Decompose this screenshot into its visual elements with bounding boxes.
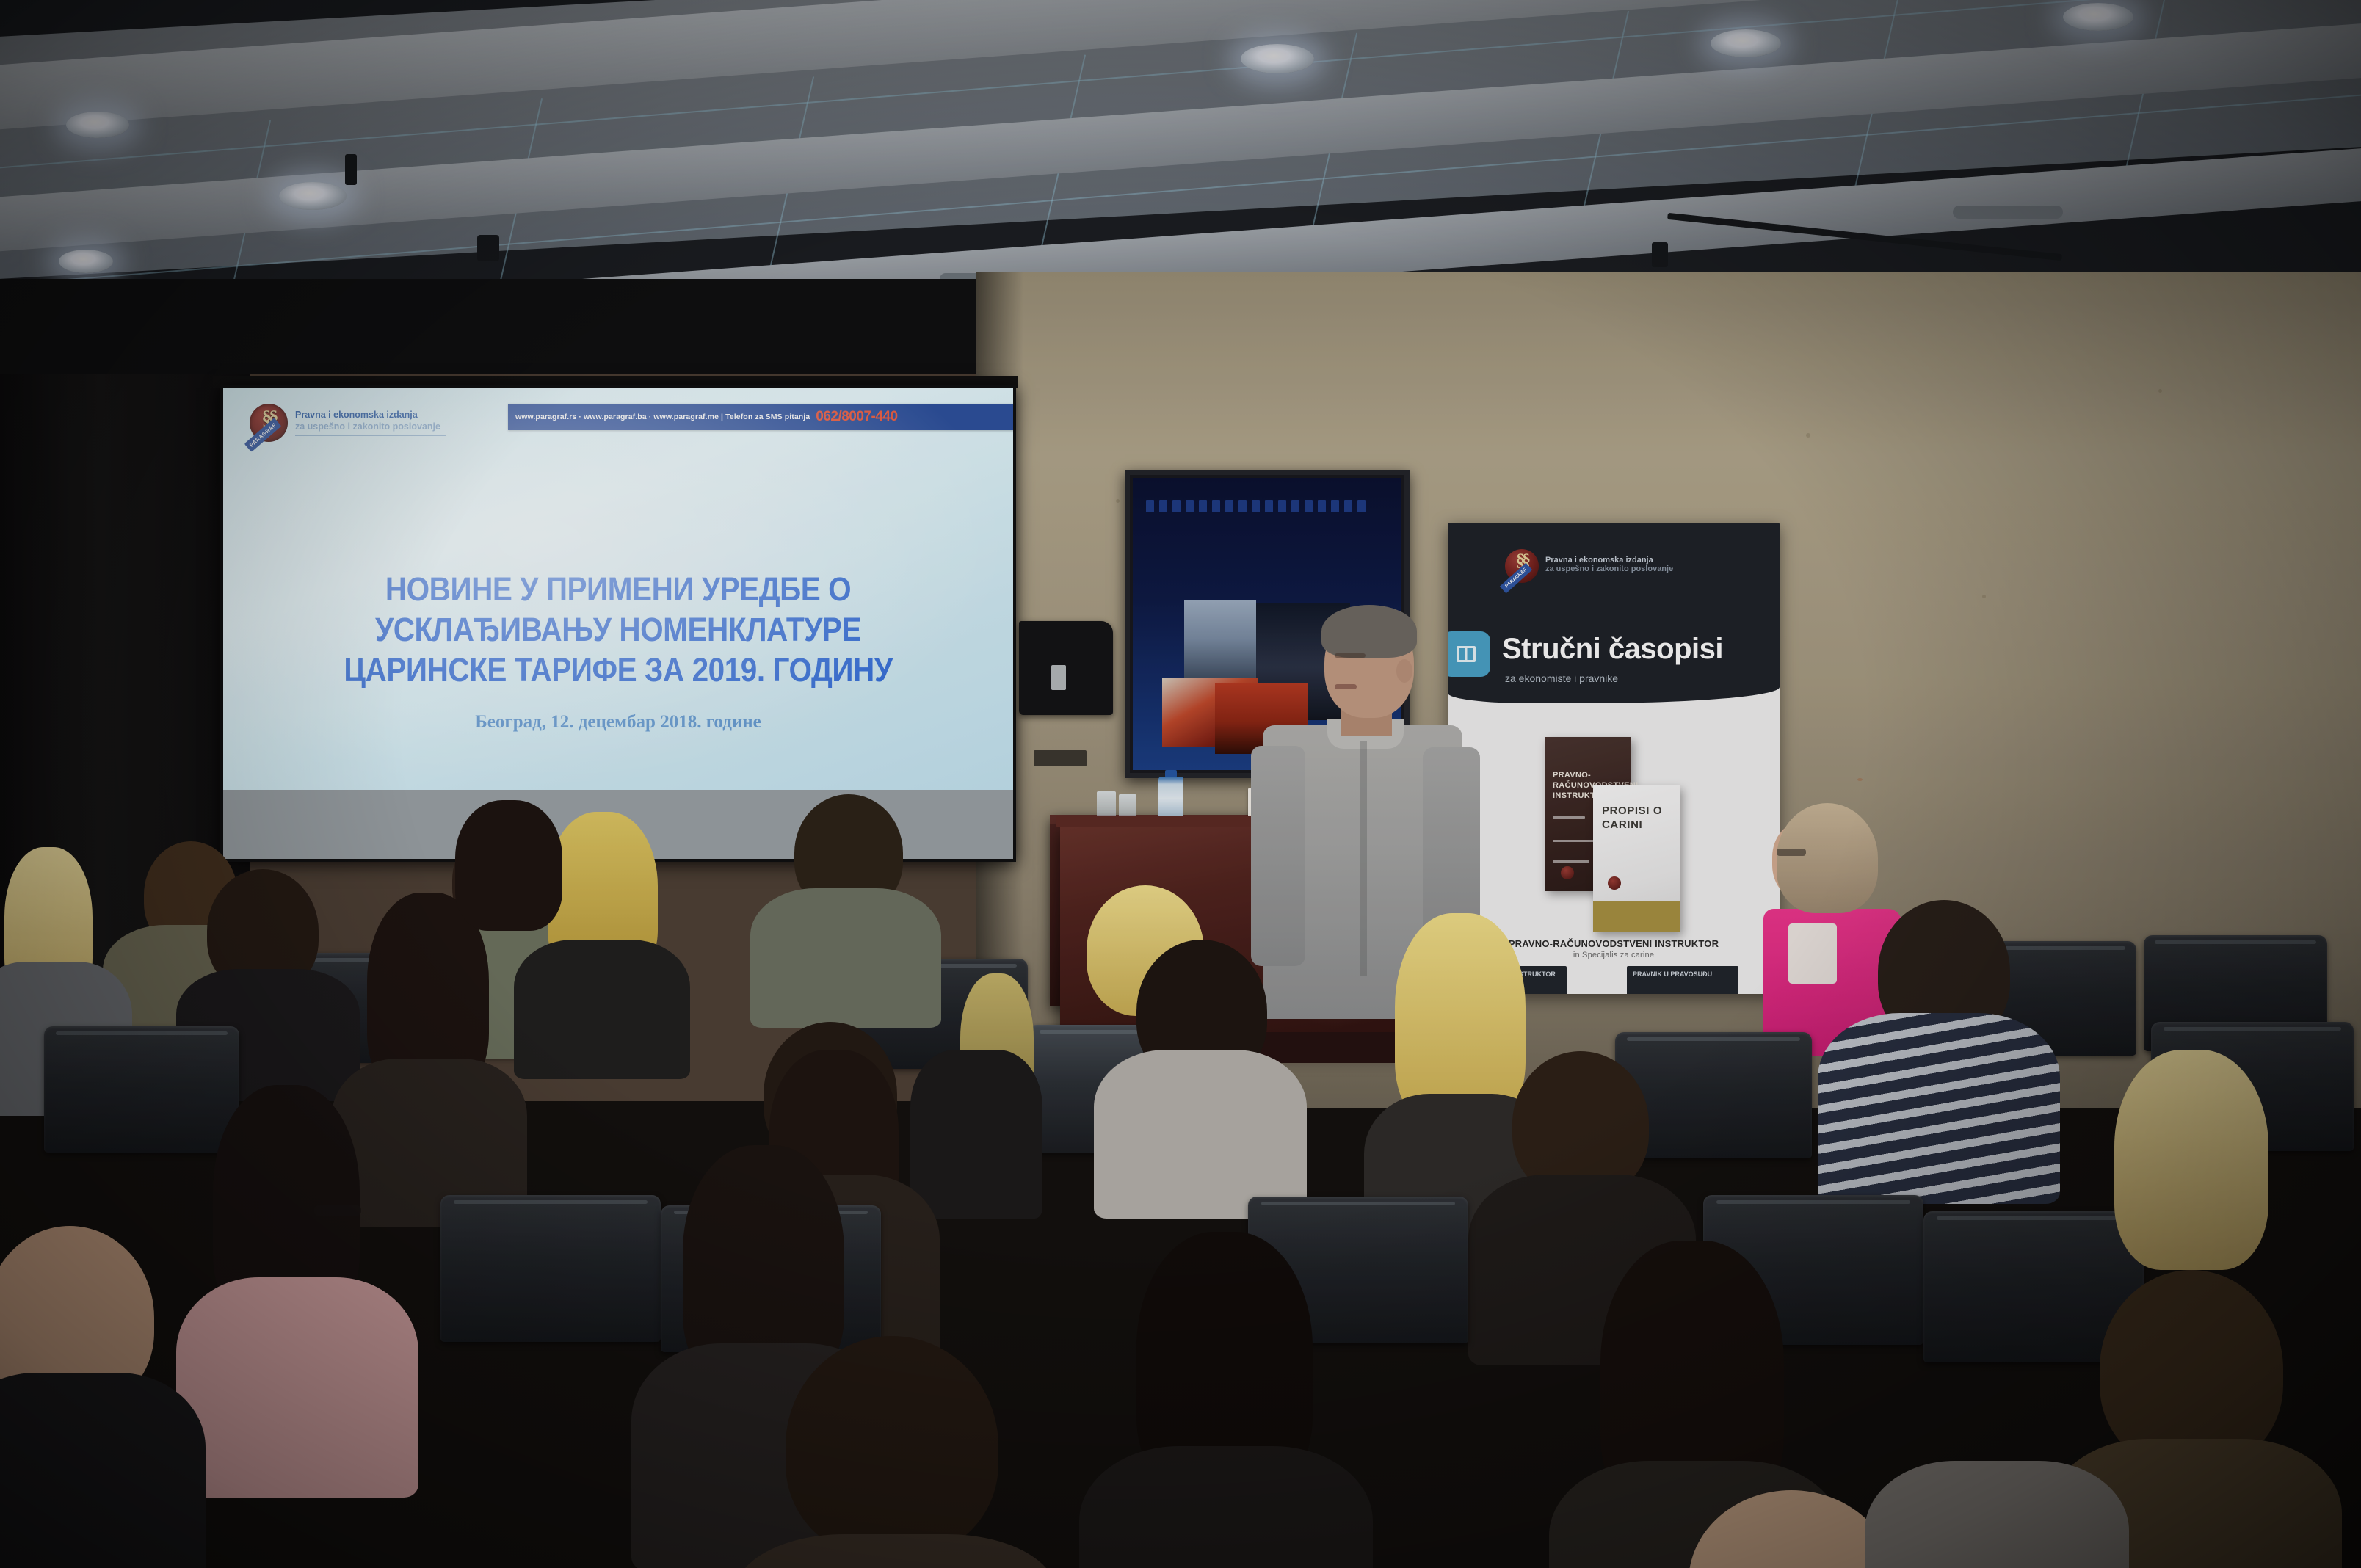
slide-subtitle: Београд, 12. децембар 2018. године — [266, 712, 971, 733]
attendee-torso — [514, 940, 690, 1079]
slide-tagline-rule — [295, 435, 446, 436]
ceiling-sensor-icon — [477, 235, 499, 261]
rollup-tagline-line2: za uspešno i zakonito poslovanje — [1545, 565, 1689, 573]
ceiling-downlight — [2063, 3, 2133, 31]
poster-photo — [1184, 600, 1256, 682]
screen-surface: §§ PARAGRAF Pravna i ekonomska izdanja z… — [223, 388, 1013, 859]
slide-title: НОВИНЕ У ПРИМЕНИ УРЕДБЕ О УСКЛАЂИВАЊУ НО… — [301, 570, 935, 691]
slide-banner-phone: 062/8007-440 — [816, 409, 897, 425]
poster-top-strip — [1146, 500, 1366, 512]
speaker-hair — [1321, 605, 1417, 658]
attendee-torso — [910, 1050, 1042, 1219]
rollup-logo: §§ PARAGRAF Pravna i ekonomska izdanja z… — [1505, 549, 1689, 583]
attendee-torso — [750, 888, 941, 1028]
paragraf-seal-icon: §§ PARAGRAF — [1505, 549, 1539, 583]
attendee-torso — [0, 1373, 206, 1568]
speaker-brow — [1335, 653, 1366, 658]
ceiling-downlight — [1241, 44, 1314, 73]
speaker-mouth — [1335, 684, 1357, 689]
ceiling-downlight — [1711, 29, 1781, 57]
slide-tagline: Pravna i ekonomska izdanja za uspešno i … — [295, 410, 446, 435]
bottle-cap — [1165, 770, 1177, 777]
ceiling-sensor-icon — [1652, 242, 1668, 267]
ceiling-downlight — [66, 112, 129, 138]
dark-wall-upper — [0, 279, 998, 374]
speaker-led-icon — [1051, 665, 1066, 690]
attendee-hair — [455, 800, 562, 931]
auditorium-seat — [44, 1026, 239, 1153]
ceiling-vent — [1953, 206, 2063, 219]
slide-tagline-line2: za uspešno i zakonito poslovanje — [295, 421, 446, 433]
attendee-hair — [2114, 1050, 2268, 1270]
attendee-torso — [1818, 1013, 2060, 1204]
rollup-tagline: Pravna i ekonomska izdanja za uspešno i … — [1545, 556, 1689, 576]
wall-speaker — [1019, 621, 1113, 715]
rollup-tagline-rule — [1545, 576, 1689, 576]
ceiling — [0, 0, 2361, 316]
ceiling-downlight — [279, 182, 347, 210]
projection-screen: §§ PARAGRAF Pravna i ekonomska izdanja z… — [220, 385, 1016, 862]
ceiling-downlight — [59, 250, 113, 273]
attendee-torso — [1865, 1461, 2129, 1568]
journal-cover-light-title: PROPISI O CARINI — [1602, 805, 1671, 832]
ceiling-sensor-icon — [345, 154, 357, 185]
paragraf-seal-icon: §§ PARAGRAF — [250, 404, 288, 442]
rollup-subtitle: za ekonomiste i pravnike — [1505, 672, 1618, 684]
attendee-torso — [176, 1277, 418, 1498]
slide-tagline-line1: Pravna i ekonomska izdanja — [295, 410, 446, 421]
attendee-torso — [1079, 1446, 1373, 1568]
attendee-torso — [1094, 1050, 1307, 1219]
auditorium-seat — [440, 1195, 661, 1342]
slide-logo: §§ PARAGRAF Pravna i ekonomska izdanja z… — [250, 404, 446, 442]
speaker-ear — [1396, 659, 1412, 683]
rollup-title: Stručni časopisi — [1502, 633, 1723, 666]
attendee-head — [786, 1336, 998, 1556]
conference-hall-photo: §§ PARAGRAF Pravna i ekonomska izdanja z… — [0, 0, 2361, 1568]
rollup-tagline-line1: Pravna i ekonomska izdanja — [1545, 556, 1689, 565]
audience-area — [0, 830, 2361, 1568]
presentation-slide: §§ PARAGRAF Pravna i ekonomska izdanja z… — [223, 388, 1013, 790]
wall-plate — [1034, 750, 1087, 766]
attendee-glasses-icon — [314, 1205, 361, 1216]
slide-banner-websites: www.paragraf.rs · www.paragraf.ba · www.… — [515, 413, 810, 421]
slide-contact-banner: www.paragraf.rs · www.paragraf.ba · www.… — [508, 404, 1013, 430]
